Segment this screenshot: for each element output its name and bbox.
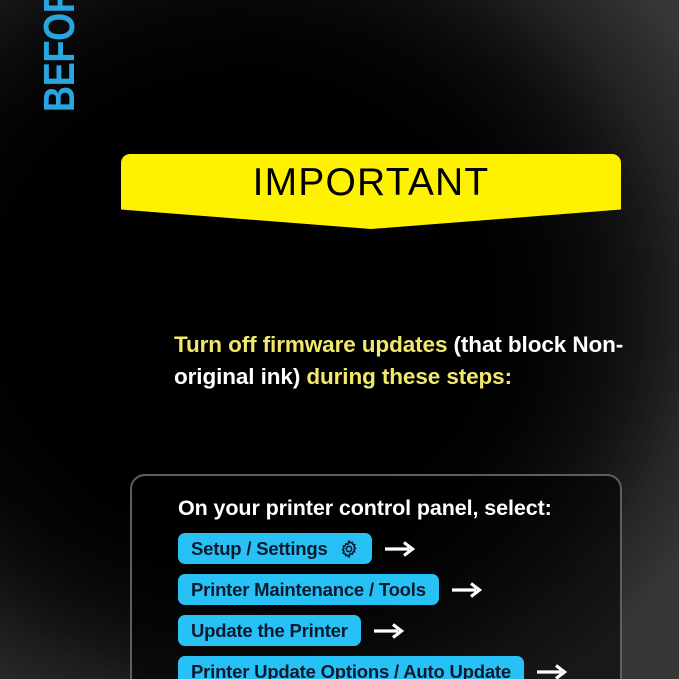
gear-icon — [339, 539, 359, 559]
arrow-right-icon — [536, 663, 570, 679]
poster-root: BEFORE THE INSTALLATION IMPORTANT Turn o… — [0, 0, 679, 679]
panel-heading: On your printer control panel, select: — [178, 496, 552, 521]
step-pill-update-the-printer[interactable]: Update the Printer — [178, 615, 361, 646]
list-item: Update the Printer — [178, 615, 608, 647]
step-pill-setup-settings[interactable]: Setup / Settings — [178, 533, 372, 564]
side-title-text: BEFORE THE INSTALLATION — [38, 0, 82, 112]
important-banner: IMPORTANT — [121, 154, 621, 229]
instructions-panel: On your printer control panel, select: S… — [130, 474, 622, 679]
steps-list: Setup / Settings Printer Maintenance / T… — [178, 533, 608, 679]
step-label: Setup / Settings — [191, 538, 328, 560]
arrow-right-icon — [451, 581, 485, 599]
intro-part-1: Turn off firmware updates — [174, 332, 454, 357]
vertical-side-title: BEFORE THE INSTALLATION — [0, 0, 120, 120]
step-pill-printer-maintenance-tools[interactable]: Printer Maintenance / Tools — [178, 574, 439, 605]
list-item: Printer Maintenance / Tools — [178, 574, 608, 606]
arrow-right-icon — [384, 540, 418, 558]
step-label: Printer Update Options / Auto Update — [191, 661, 511, 679]
step-label: Update the Printer — [191, 620, 348, 642]
banner-label: IMPORTANT — [121, 162, 621, 205]
list-item: Setup / Settings — [178, 533, 608, 565]
list-item: Printer Update Options / Auto Update — [178, 656, 608, 679]
intro-warning-text: Turn off firmware updates (that block No… — [174, 329, 654, 393]
step-label: Printer Maintenance / Tools — [191, 579, 426, 601]
arrow-right-icon — [373, 622, 407, 640]
step-pill-printer-update-options-auto-update[interactable]: Printer Update Options / Auto Update — [178, 656, 524, 679]
intro-part-3: during these steps: — [306, 364, 512, 389]
